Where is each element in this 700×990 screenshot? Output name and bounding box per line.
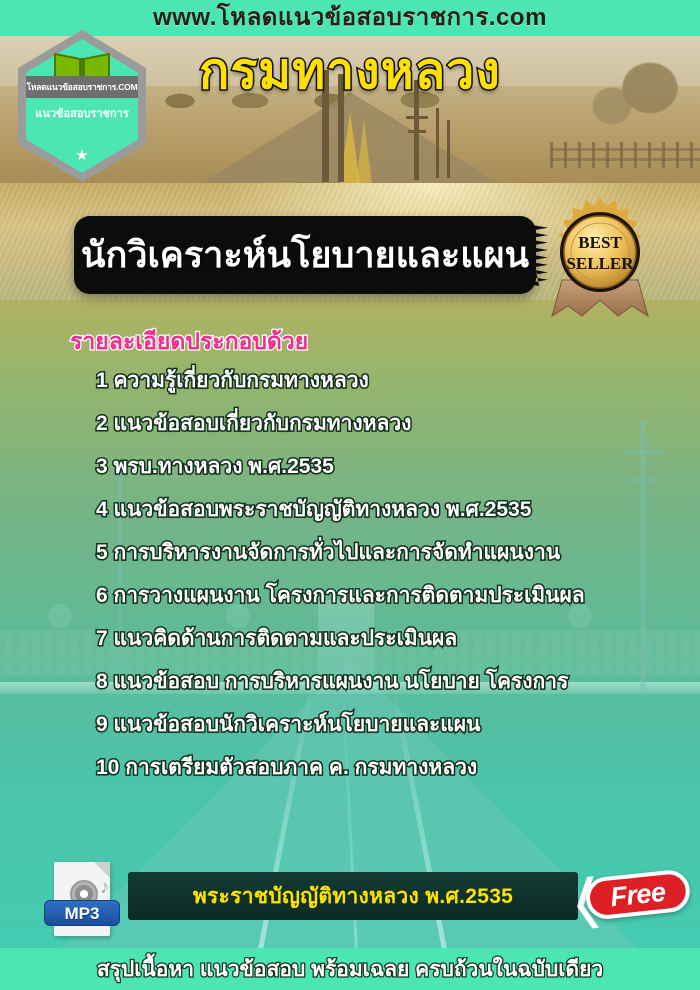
main-tree xyxy=(40,600,80,644)
star-icon: ★ xyxy=(75,148,88,163)
mp3-title-bar: พระราชบัญญัติทางหลวง พ.ศ.2535 xyxy=(128,872,578,920)
list-item: 7 แนวคิดด้านการติดตามและประเมินผล xyxy=(96,628,676,649)
free-badge-text: Free xyxy=(609,878,667,911)
job-position-bar: นักวิเคราะห์นโยบายและแผน xyxy=(74,216,536,294)
mp3-file-icon: ♪ MP3 xyxy=(48,858,120,942)
hero-fence xyxy=(550,142,700,168)
footer-tagline: สรุปเนื้อหา แนวข้อสอบ พร้อมเฉลย ครบถ้วนใ… xyxy=(97,959,603,980)
hero-road-centerline-second xyxy=(356,120,372,184)
mp3-format-label: MP3 xyxy=(44,900,120,926)
hero-pole-crossarm xyxy=(406,116,428,119)
list-item: 4 แนวข้อสอบพระราชบัญญัติทางหลวง พ.ศ.2535 xyxy=(96,499,676,520)
footer-bar: สรุปเนื้อหา แนวข้อสอบ พร้อมเฉลย ครบถ้วนใ… xyxy=(0,948,700,990)
badge-subtitle: แนวข้อสอบราชการ xyxy=(18,104,146,122)
list-item: 2 แนวข้อสอบเกี่ยวกับกรมทางหลวง xyxy=(96,413,676,434)
site-logo-badge[interactable]: โหลดแนวข้อสอบราชการ.COM แนวข้อสอบราชการ … xyxy=(18,30,146,182)
list-item: 6 การวางแผนงาน โครงการและการติดตามประเมิ… xyxy=(96,585,676,606)
list-item: 1 ความรู้เกี่ยวกับกรมทางหลวง xyxy=(96,370,676,391)
badge-banner-strip: โหลดแนวข้อสอบราชการ.COM xyxy=(26,76,138,98)
best-seller-line1: BEST xyxy=(578,233,622,252)
hero-utility-pole xyxy=(436,108,439,178)
job-position-title: นักวิเคราะห์นโยบายและแผน xyxy=(81,237,529,273)
list-item: 3 พรบ.ทางหลวง พ.ศ.2535 xyxy=(96,456,676,477)
hero-utility-pole xyxy=(447,120,450,178)
mp3-page-fold xyxy=(94,862,110,878)
music-note-icon: ♪ xyxy=(100,878,110,897)
best-seller-medal: BEST SELLER xyxy=(540,196,660,322)
details-list: 1 ความรู้เกี่ยวกับกรมทางหลวง 2 แนวข้อสอบ… xyxy=(96,370,676,800)
list-item: 8 แนวข้อสอบ การบริหารแผนงาน นโยบาย โครงก… xyxy=(96,671,676,692)
badge-banner-text: โหลดแนวข้อสอบราชการ.COM xyxy=(27,83,138,92)
poster-root: www.โหลดแนวข้อสอบราชการ.com กรมทางหลวง xyxy=(0,0,700,990)
hero-pole-crossarm xyxy=(408,130,426,133)
list-item: 5 การบริหารงานจัดการทั่วไปและการจัดทำแผน… xyxy=(96,542,676,563)
details-heading: รายละเอียดประกอบด้วย xyxy=(70,330,308,353)
list-item: 9 แนวข้อสอบนักวิเคราะห์นโยบายและแผน xyxy=(96,714,676,735)
mp3-format-text: MP3 xyxy=(65,905,100,922)
best-seller-line2: SELLER xyxy=(566,254,634,273)
mp3-title-text: พระราชบัญญัติทางหลวง พ.ศ.2535 xyxy=(193,886,513,907)
site-url-text: www.โหลดแนวข้อสอบราชการ.com xyxy=(153,6,547,30)
free-badge-pill: Free xyxy=(584,868,692,921)
list-item: 10 การเตรียมตัวสอบภาค ค. กรมทางหลวง xyxy=(96,757,676,778)
